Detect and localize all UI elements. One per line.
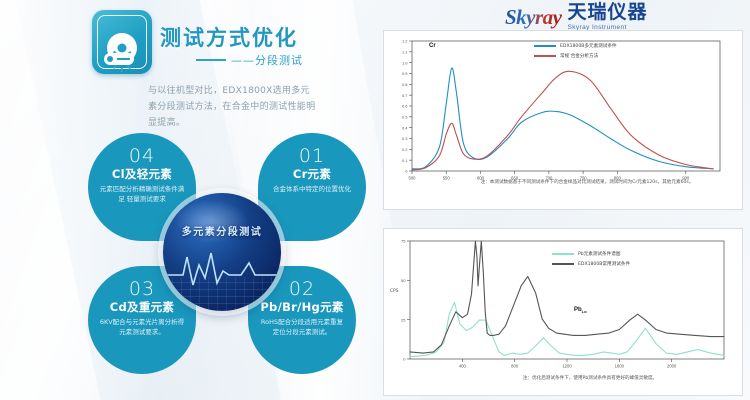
petal-heading: Cr元素 xyxy=(258,166,366,182)
svg-text:0.4: 0.4 xyxy=(402,125,408,130)
subtitle-text: ——分段测试 xyxy=(231,52,303,68)
legend-label: 常规 合金分析方法 xyxy=(560,53,598,59)
svg-text:0.2: 0.2 xyxy=(402,147,408,152)
waveform-icon xyxy=(163,245,281,291)
legend-label: EDX1800B多元素测试条件 xyxy=(560,43,617,49)
legend-label: EDX1800B常用测试条件 xyxy=(578,261,630,267)
legend-swatch xyxy=(552,263,574,265)
logo-chinese-name: 天瑞仪器 xyxy=(568,3,648,22)
bottom-chart-legend: Pb元素测试条件谱图EDX1800B常用测试条件 xyxy=(552,251,630,267)
svg-text:1600: 1600 xyxy=(615,364,625,369)
peak-label-cr: Cr xyxy=(429,43,436,49)
vault-safe-icon xyxy=(92,10,152,74)
legend-item: EDX1800B常用测试条件 xyxy=(552,261,630,267)
top-chart-legend: EDX1800B多元素测试条件常规 合金分析方法 xyxy=(534,43,617,59)
sphere-label: 多元素分段测试 xyxy=(163,223,281,238)
page-subtitle: ——分段测试 xyxy=(196,52,303,68)
svg-text:0.3: 0.3 xyxy=(402,136,408,141)
svg-text:0.6: 0.6 xyxy=(402,104,408,109)
petal-description: 合金体系中特定的位置优化 xyxy=(258,185,366,195)
svg-text:2000: 2000 xyxy=(667,364,677,369)
slide-root: Skyray 天瑞仪器 Skyray Instrument 测试方式优化 ——分… xyxy=(0,0,750,400)
svg-text:75: 75 xyxy=(401,239,406,244)
brand-logo: Skyray 天瑞仪器 Skyray Instrument xyxy=(505,2,745,32)
svg-text:50: 50 xyxy=(401,278,406,283)
subtitle-dash xyxy=(196,59,226,61)
legend-label: Pb元素测试条件谱图 xyxy=(578,251,620,257)
svg-text:0.1: 0.1 xyxy=(402,158,408,163)
petal-heading: Cl及轻元素 xyxy=(88,166,196,182)
legend-item: Pb元素测试条件谱图 xyxy=(552,251,630,257)
legend-swatch xyxy=(552,253,574,255)
svg-text:1.1: 1.1 xyxy=(402,49,408,54)
chart-card-top: 00.10.20.30.40.50.60.70.80.91.01.11.2500… xyxy=(383,30,743,210)
center-sphere: 多元素分段测试 xyxy=(163,193,281,311)
legend-item: EDX1800B多元素测试条件 xyxy=(534,43,617,49)
top-chart-caption: 注：本测试数据基于不同测试条件下的合金样品对比测试结果，测试时间为Cr元素120… xyxy=(462,179,712,187)
petal-number: 04 xyxy=(88,145,196,167)
svg-text:0.9: 0.9 xyxy=(402,71,408,76)
svg-text:0: 0 xyxy=(403,357,406,362)
svg-text:400: 400 xyxy=(459,364,467,369)
vault-handle xyxy=(104,53,134,65)
petal-description: 6KV配合与元素光片离分析得元素测试要求。 xyxy=(88,318,196,338)
peak-label-pb: PbLα xyxy=(574,307,587,314)
svg-text:500: 500 xyxy=(409,176,417,181)
petal-number: 01 xyxy=(258,145,366,167)
bottom-chart-ylabel: CPS xyxy=(390,289,399,294)
svg-text:800: 800 xyxy=(511,364,519,369)
chart-card-bottom: 0255075400800120016002000 Pb元素测试条件谱图EDX1… xyxy=(383,228,743,396)
svg-text:550: 550 xyxy=(443,176,451,181)
petal-description: 元素匹配分析精确测试条件满足 轻量测试要求 xyxy=(88,185,196,205)
petal-description: RoHS配合分段适用元素重复定位分段元素测试。 xyxy=(248,318,356,338)
legend-item: 常规 合金分析方法 xyxy=(534,53,617,59)
intro-paragraph: 与以往机型对比，EDX1800X选用多元素分段测试方法，在合金中的测试性能明显提… xyxy=(148,84,316,131)
svg-text:0.7: 0.7 xyxy=(402,93,408,98)
legend-swatch xyxy=(534,55,556,57)
svg-text:1200: 1200 xyxy=(562,364,572,369)
svg-text:0.8: 0.8 xyxy=(402,82,408,87)
svg-text:0.5: 0.5 xyxy=(402,114,408,119)
svg-text:25: 25 xyxy=(401,317,406,322)
legend-swatch xyxy=(534,45,556,47)
logo-script-text: Skyray xyxy=(505,5,562,30)
svg-text:1.2: 1.2 xyxy=(402,39,408,44)
bottom-chart-caption: 注：优化后测试条件下，使用Pb测试条件具有更好的峰值灵敏度。 xyxy=(480,375,700,383)
svg-text:0: 0 xyxy=(405,169,408,174)
page-title: 测试方式优化 xyxy=(160,22,298,52)
svg-text:1.0: 1.0 xyxy=(402,60,408,65)
